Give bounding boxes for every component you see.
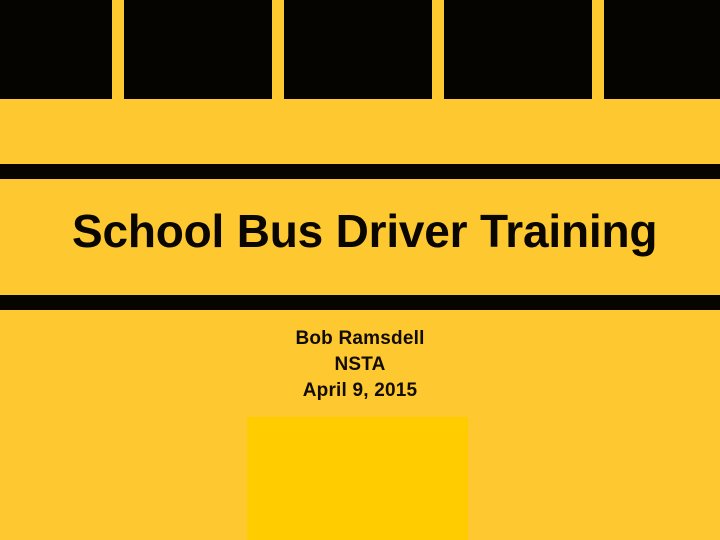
organization-name: NSTA bbox=[110, 352, 610, 378]
bus-window-band bbox=[0, 0, 720, 99]
bus-window-pane-1 bbox=[0, 0, 112, 99]
bus-window-pane-3 bbox=[284, 0, 432, 99]
bus-window-pane-4 bbox=[444, 0, 592, 99]
presentation-slide: School Bus Driver Training Bob Ramsdell … bbox=[0, 0, 720, 540]
content-placeholder-box bbox=[247, 417, 468, 540]
upper-body-stripe bbox=[0, 164, 720, 179]
presenter-name: Bob Ramsdell bbox=[110, 326, 610, 352]
bus-window-pane-5 bbox=[604, 0, 720, 99]
slide-title: School Bus Driver Training bbox=[72, 207, 672, 255]
title-band: School Bus Driver Training bbox=[0, 179, 720, 295]
bus-window-pane-2 bbox=[124, 0, 272, 99]
lower-body-stripe bbox=[0, 295, 720, 310]
subtitle-block: Bob Ramsdell NSTA April 9, 2015 bbox=[110, 326, 610, 404]
presentation-date: April 9, 2015 bbox=[110, 378, 610, 404]
